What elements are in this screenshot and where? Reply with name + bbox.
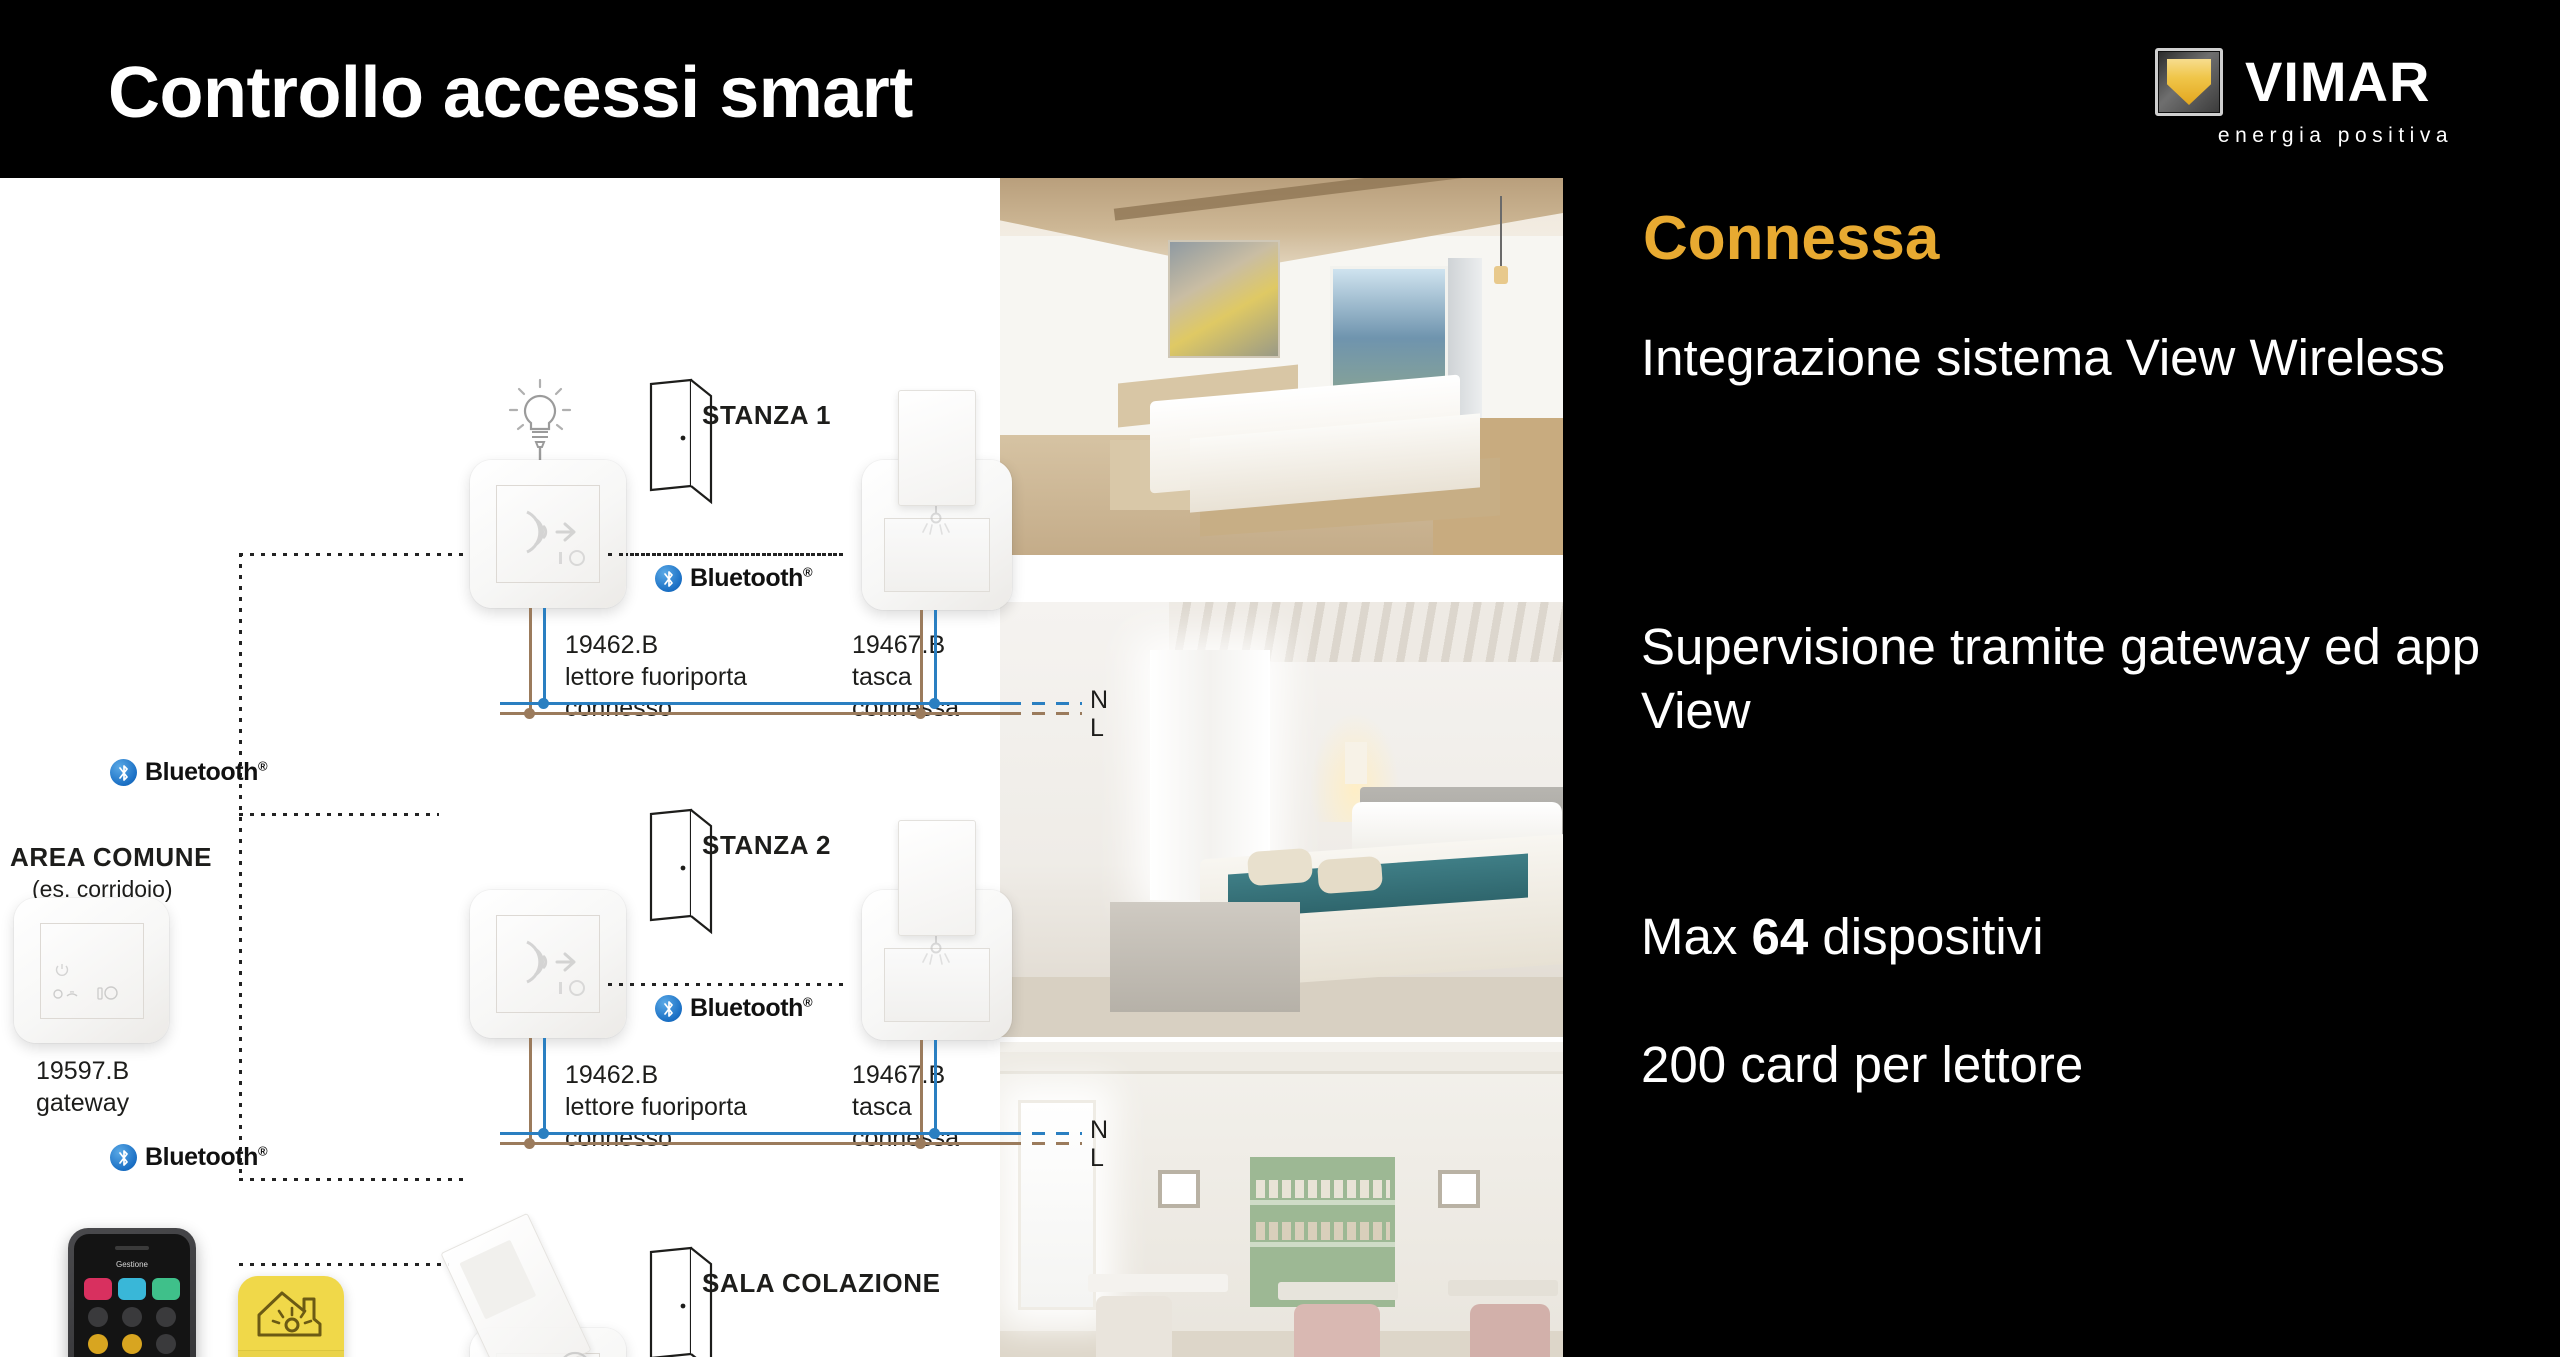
feature-heading: Connessa [1643,203,1939,274]
smartphone-mockup[interactable]: Gestione [68,1228,196,1357]
reader-faceplate [496,485,600,583]
phone-app-grid [84,1278,180,1357]
bluetooth-badge-room2: Bluetooth® [655,994,812,1023]
phone-screen-title: Gestione [74,1260,190,1269]
feature-panel: Connessa Integrazione sistema View Wirel… [1563,178,2560,1357]
bt-branch-room3 [239,1178,464,1181]
wire-n-pocket-room2 [934,1040,937,1134]
wire-l-pocket-room1 [920,610,923,713]
wire-label-n-room2: N [1090,1116,1108,1145]
junction-n-pocket-room2 [929,1128,940,1139]
wire-label-l-room2: L [1090,1144,1104,1173]
house-light-icon [238,1276,344,1350]
pocket-card-room2 [898,820,976,936]
phone-tile[interactable] [118,1278,146,1300]
bluetooth-icon [655,565,682,592]
reader-indicator-icon [557,549,589,572]
room-label-1: STANZA 1 [702,400,831,431]
power-icon [55,962,69,983]
gateway-status-icons [51,981,129,1006]
bluetooth-label: Bluetooth® [690,564,812,593]
phone-icon[interactable] [156,1307,176,1327]
phone-screen: Gestione [74,1234,190,1357]
door-icon-room1 [645,378,717,513]
junction-l-pocket-room1 [915,708,926,719]
phone-tile[interactable] [152,1278,180,1300]
wire-label-n-room1: N [1090,686,1108,715]
pocket-light-icon [914,502,958,541]
phone-tile[interactable] [84,1278,112,1300]
wire-n-reader-room2 [543,1038,546,1134]
header-bar: Controllo accessi smart VIMAR energia po… [0,0,2560,178]
junction-n-reader-room2 [538,1128,549,1139]
feature-item-1: Integrazione sistema View Wireless [1641,326,2521,390]
bt-link-room2 [608,983,848,986]
bluetooth-badge-lower: Bluetooth® [110,1143,267,1172]
wire-l-reader-room1 [529,608,532,713]
light-bulb-icon [505,376,575,471]
wire-l-bus-room1 [500,712,1010,715]
app-tile-brand: VIMAR [238,1350,344,1357]
feature-item-3-suffix: dispositivi [1808,908,2043,965]
gateway-device[interactable] [14,898,169,1043]
bt-branch-room2 [239,813,439,816]
wire-l-continue-room1 [1008,712,1082,715]
pocket-code-room1: 19467.B tasca connessa [852,630,959,725]
bt-link-room1 [608,553,848,556]
phone-icon[interactable] [122,1334,142,1354]
diagram-panel: Bluetooth® AREA COMUNE (es. corridoio) [0,178,1563,1357]
bt-branch-app [239,1263,449,1266]
wire-n-reader-room1 [543,608,546,704]
card-contactless-icon [553,1346,597,1357]
bluetooth-icon [655,995,682,1022]
feature-item-2: Supervisione tramite gateway ed app View [1641,615,2521,743]
reader-code-room1: 19462.B lettore fuoriporta connesso [565,630,747,725]
vimar-logo: VIMAR energia positiva [2155,48,2455,148]
vimar-wordmark: VIMAR [2245,54,2430,110]
wire-label-l-room1: L [1090,714,1104,743]
reader-indicator-icon [557,979,589,1002]
phone-notch [74,1240,190,1256]
vimar-shield-icon [2155,48,2223,116]
room-label-2: STANZA 2 [702,830,831,861]
reader-faceplate [496,915,600,1013]
access-card-tapping [440,1213,591,1357]
pocket-card-room1 [898,390,976,506]
page-title: Controllo accessi smart [108,52,913,134]
junction-l-reader-room2 [524,1138,535,1149]
reader-device-room1[interactable] [470,460,626,608]
gateway-faceplate [40,923,144,1019]
phone-icon[interactable] [88,1307,108,1327]
junction-l-reader-room1 [524,708,535,719]
wire-l-bus-room2 [500,1142,1010,1145]
reader-code-room2: 19462.B lettore fuoriporta connesso [565,1060,747,1155]
door-icon-room3 [645,1246,717,1357]
junction-n-pocket-room1 [929,698,940,709]
vimar-tagline: energia positiva [2218,124,2453,148]
bluetooth-label: Bluetooth® [690,994,812,1023]
room-label-3: SALA COLAZIONE [702,1268,941,1299]
feature-item-3-prefix: Max [1641,908,1752,965]
door-icon-room2 [645,808,717,943]
junction-n-reader-room1 [538,698,549,709]
reader-device-room2[interactable] [470,890,626,1038]
feature-item-3: Max 64 dispositivi [1641,905,2521,969]
area-comune-title: AREA COMUNE [10,842,212,873]
wire-l-pocket-room2 [920,1040,923,1143]
bluetooth-label: Bluetooth® [145,1143,267,1172]
bt-trunk-vertical [239,553,242,1178]
phone-icon[interactable] [88,1334,108,1354]
gateway-code: 19597.B gateway [36,1056,129,1119]
pocket-code-room2: 19467.B tasca connessa [852,1060,959,1155]
wire-n-continue-room2 [1008,1132,1082,1135]
bluetooth-label: Bluetooth® [145,758,267,787]
wire-l-continue-room2 [1008,1142,1082,1145]
bluetooth-icon [110,759,137,786]
vimar-view-app-tile[interactable]: VIMAR [238,1276,344,1357]
phone-icon[interactable] [122,1307,142,1327]
phone-icon[interactable] [156,1334,176,1354]
pocket-light-icon [914,932,958,971]
wire-l-reader-room2 [529,1038,532,1143]
wire-n-continue-room1 [1008,702,1082,705]
bluetooth-badge-upper: Bluetooth® [110,758,267,787]
bluetooth-icon [110,1144,137,1171]
feature-item-4: 200 card per lettore [1641,1033,2521,1097]
system-diagram: Bluetooth® AREA COMUNE (es. corridoio) [0,178,1563,1357]
feature-item-3-emphasis: 64 [1752,908,1809,965]
bluetooth-badge-room1: Bluetooth® [655,564,812,593]
junction-l-pocket-room2 [915,1138,926,1149]
wire-n-pocket-room1 [934,610,937,704]
